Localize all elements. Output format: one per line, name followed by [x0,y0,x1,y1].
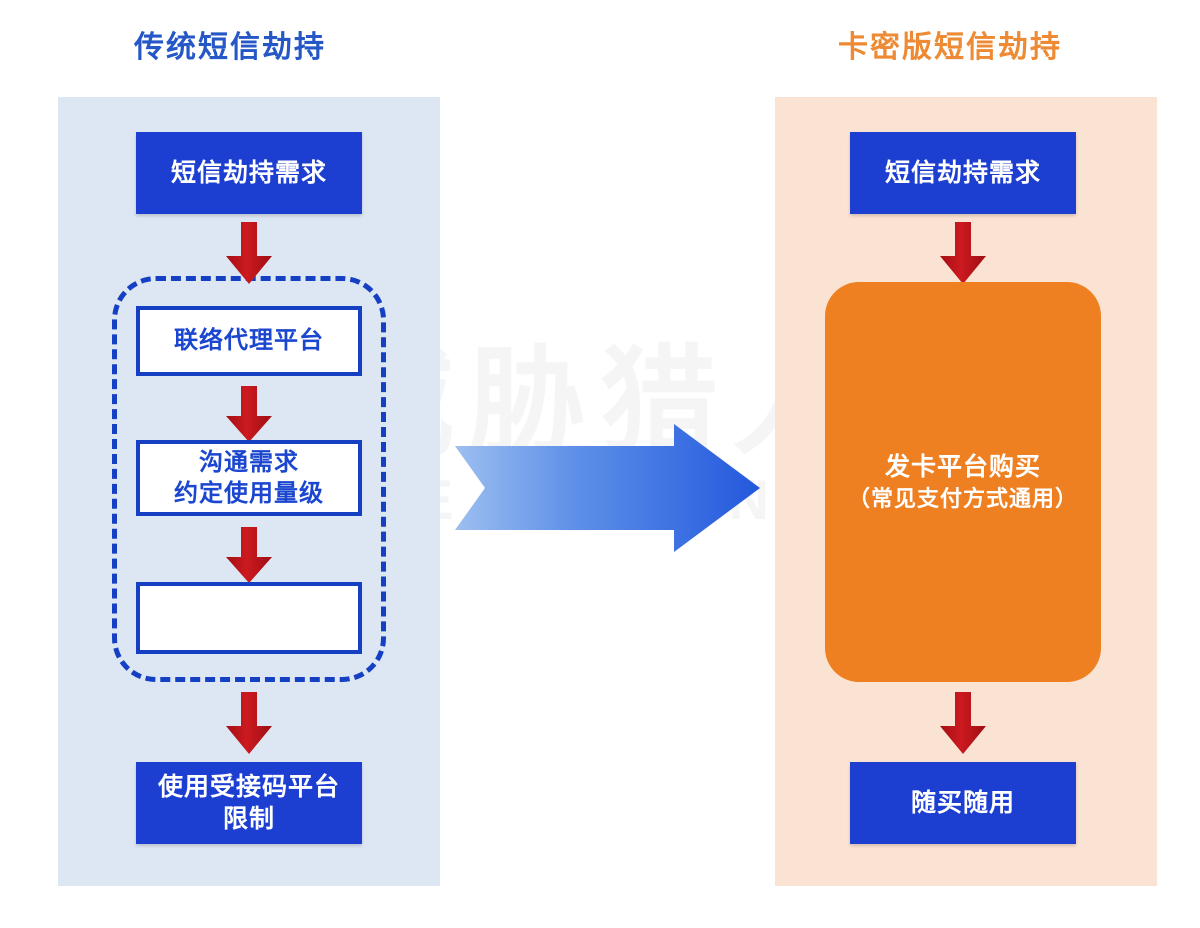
left-step-3-line1: 沟通需求 [174,447,324,478]
left-step-4-box[interactable] [136,582,362,654]
left-step-1-box[interactable]: 短信劫持需求 [136,132,362,214]
left-step-2-box[interactable]: 联络代理平台 [136,306,362,376]
right-arrow-icon [455,424,760,552]
down-arrow-icon [226,222,272,284]
left-step-3-line2: 约定使用量级 [174,478,324,509]
right-step-1-box[interactable]: 短信劫持需求 [850,132,1076,214]
left-step-5-box[interactable]: 使用受接码平台 限制 [136,762,362,844]
down-arrow-icon [226,386,272,442]
left-step-5-line2: 限制 [158,803,340,835]
down-arrow-icon [940,692,986,754]
right-step-3-box[interactable]: 随买随用 [850,762,1076,844]
left-step-5-line1: 使用受接码平台 [158,771,340,803]
down-arrow-icon [226,527,272,583]
right-step-2-line1: 发卡平台购买 [848,451,1078,485]
left-column-title: 传统短信劫持 [134,22,326,66]
down-arrow-icon [940,222,986,284]
down-arrow-icon [226,692,272,754]
right-step-2-line2: （常见支付方式通用） [848,484,1078,513]
right-column-title: 卡密版短信劫持 [838,22,1062,66]
right-step-2-box[interactable]: 发卡平台购买 （常见支付方式通用） [825,282,1101,682]
left-step-3-box[interactable]: 沟通需求 约定使用量级 [136,440,362,516]
